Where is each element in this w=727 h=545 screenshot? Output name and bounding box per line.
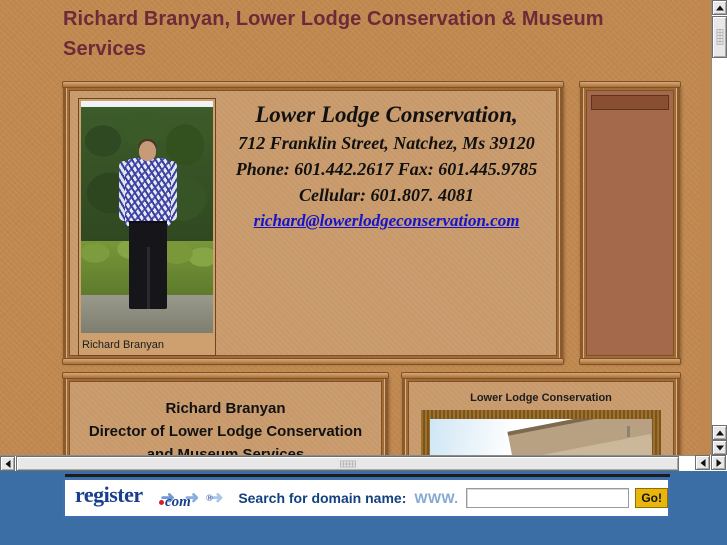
ad-shadow <box>65 474 670 477</box>
page-title: Richard Branyan, Lower Lodge Conservatio… <box>63 4 663 64</box>
frame-top-rail <box>62 81 564 88</box>
ad-banner[interactable]: register com ® ➜ ➜ ➜ Search for domain n… <box>63 478 670 518</box>
contact-frame: Richard Branyan Lower Lodge Conservation… <box>63 84 563 362</box>
horizontal-scrollbar-thumb[interactable] <box>16 456 679 471</box>
vertical-scrollbar[interactable] <box>711 0 727 455</box>
chevron-up-icon <box>716 430 724 435</box>
logo-trademark-text: ® <box>206 493 213 503</box>
email-link[interactable]: richard@lowerlodgeconservation.com <box>254 211 520 231</box>
side-frame-bottom-rail <box>579 358 681 365</box>
browser-viewport: Richard Branyan, Lower Lodge Conservatio… <box>0 0 727 471</box>
bio-line-title: Director of Lower Lodge Conservation <box>76 420 375 443</box>
register-com-logo[interactable]: register com ® <box>75 483 156 513</box>
ad-search-label: Search for domain name: <box>238 490 406 506</box>
bio-frame-top-rail <box>62 372 389 379</box>
lodge-photo-title: Lower Lodge Conservation <box>409 392 673 404</box>
chevron-down-icon <box>716 445 724 450</box>
business-name: Lower Lodge Conservation, <box>225 99 548 130</box>
avatar: Richard Branyan <box>78 98 216 356</box>
logo-register-text: register <box>75 482 143 508</box>
scroll-right-button[interactable] <box>711 455 726 470</box>
side-panel-frame[interactable] <box>580 84 680 362</box>
photo-caption: Richard Branyan <box>82 338 164 352</box>
side-frame-top-rail <box>579 81 681 88</box>
scroll-down-button[interactable] <box>712 440 727 455</box>
bio-frame-inner: Richard Branyan Director of Lower Lodge … <box>69 381 382 465</box>
contact-frame-inner: Richard Branyan Lower Lodge Conservation… <box>69 90 557 356</box>
horizontal-scrollbar[interactable] <box>0 455 711 471</box>
scroll-left-button[interactable] <box>0 456 15 471</box>
phone-fax-line: Phone: 601.442.2617 Fax: 601.445.9785 <box>225 156 548 182</box>
side-panel-inner <box>586 90 674 356</box>
scroll-up-button-bottom[interactable] <box>712 425 727 440</box>
photo-person-head <box>139 141 156 161</box>
grip-icon <box>716 29 723 45</box>
lodge-frame-top-rail <box>401 372 681 379</box>
scrollbar-corner <box>695 455 727 471</box>
business-address: 712 Franklin Street, Natchez, Ms 39120 <box>225 130 548 156</box>
photo-person-shirt <box>125 158 171 226</box>
logo-com-text: com <box>165 494 191 511</box>
lodge-finial <box>627 426 630 437</box>
grip-icon <box>340 460 356 467</box>
chevron-left-icon <box>5 460 10 468</box>
scroll-up-button[interactable] <box>712 0 727 15</box>
domain-search-input[interactable] <box>466 488 629 508</box>
photo-person-leg-split <box>147 247 150 309</box>
logo-red-dot-icon <box>159 500 164 505</box>
portrait-photo <box>81 101 213 333</box>
chevron-left-icon <box>700 459 705 467</box>
ad-www-prefix: WWW. <box>414 490 458 506</box>
frame-bottom-rail <box>62 358 564 365</box>
side-panel-header-bar <box>591 95 669 110</box>
cellular-line: Cellular: 601.807. 4081 <box>225 182 548 208</box>
go-button[interactable]: Go! <box>635 488 668 508</box>
scroll-left-button-corner[interactable] <box>695 455 710 470</box>
bio-line-name: Richard Branyan <box>76 397 375 420</box>
chevron-right-icon <box>716 459 721 467</box>
vertical-scrollbar-thumb[interactable] <box>712 16 727 58</box>
contact-details: Lower Lodge Conservation, 712 Franklin S… <box>225 99 548 231</box>
chevron-up-icon <box>716 5 724 10</box>
lodge-frame-inner: Lower Lodge Conservation <box>408 381 674 465</box>
web-page-content: Richard Branyan, Lower Lodge Conservatio… <box>0 0 700 460</box>
